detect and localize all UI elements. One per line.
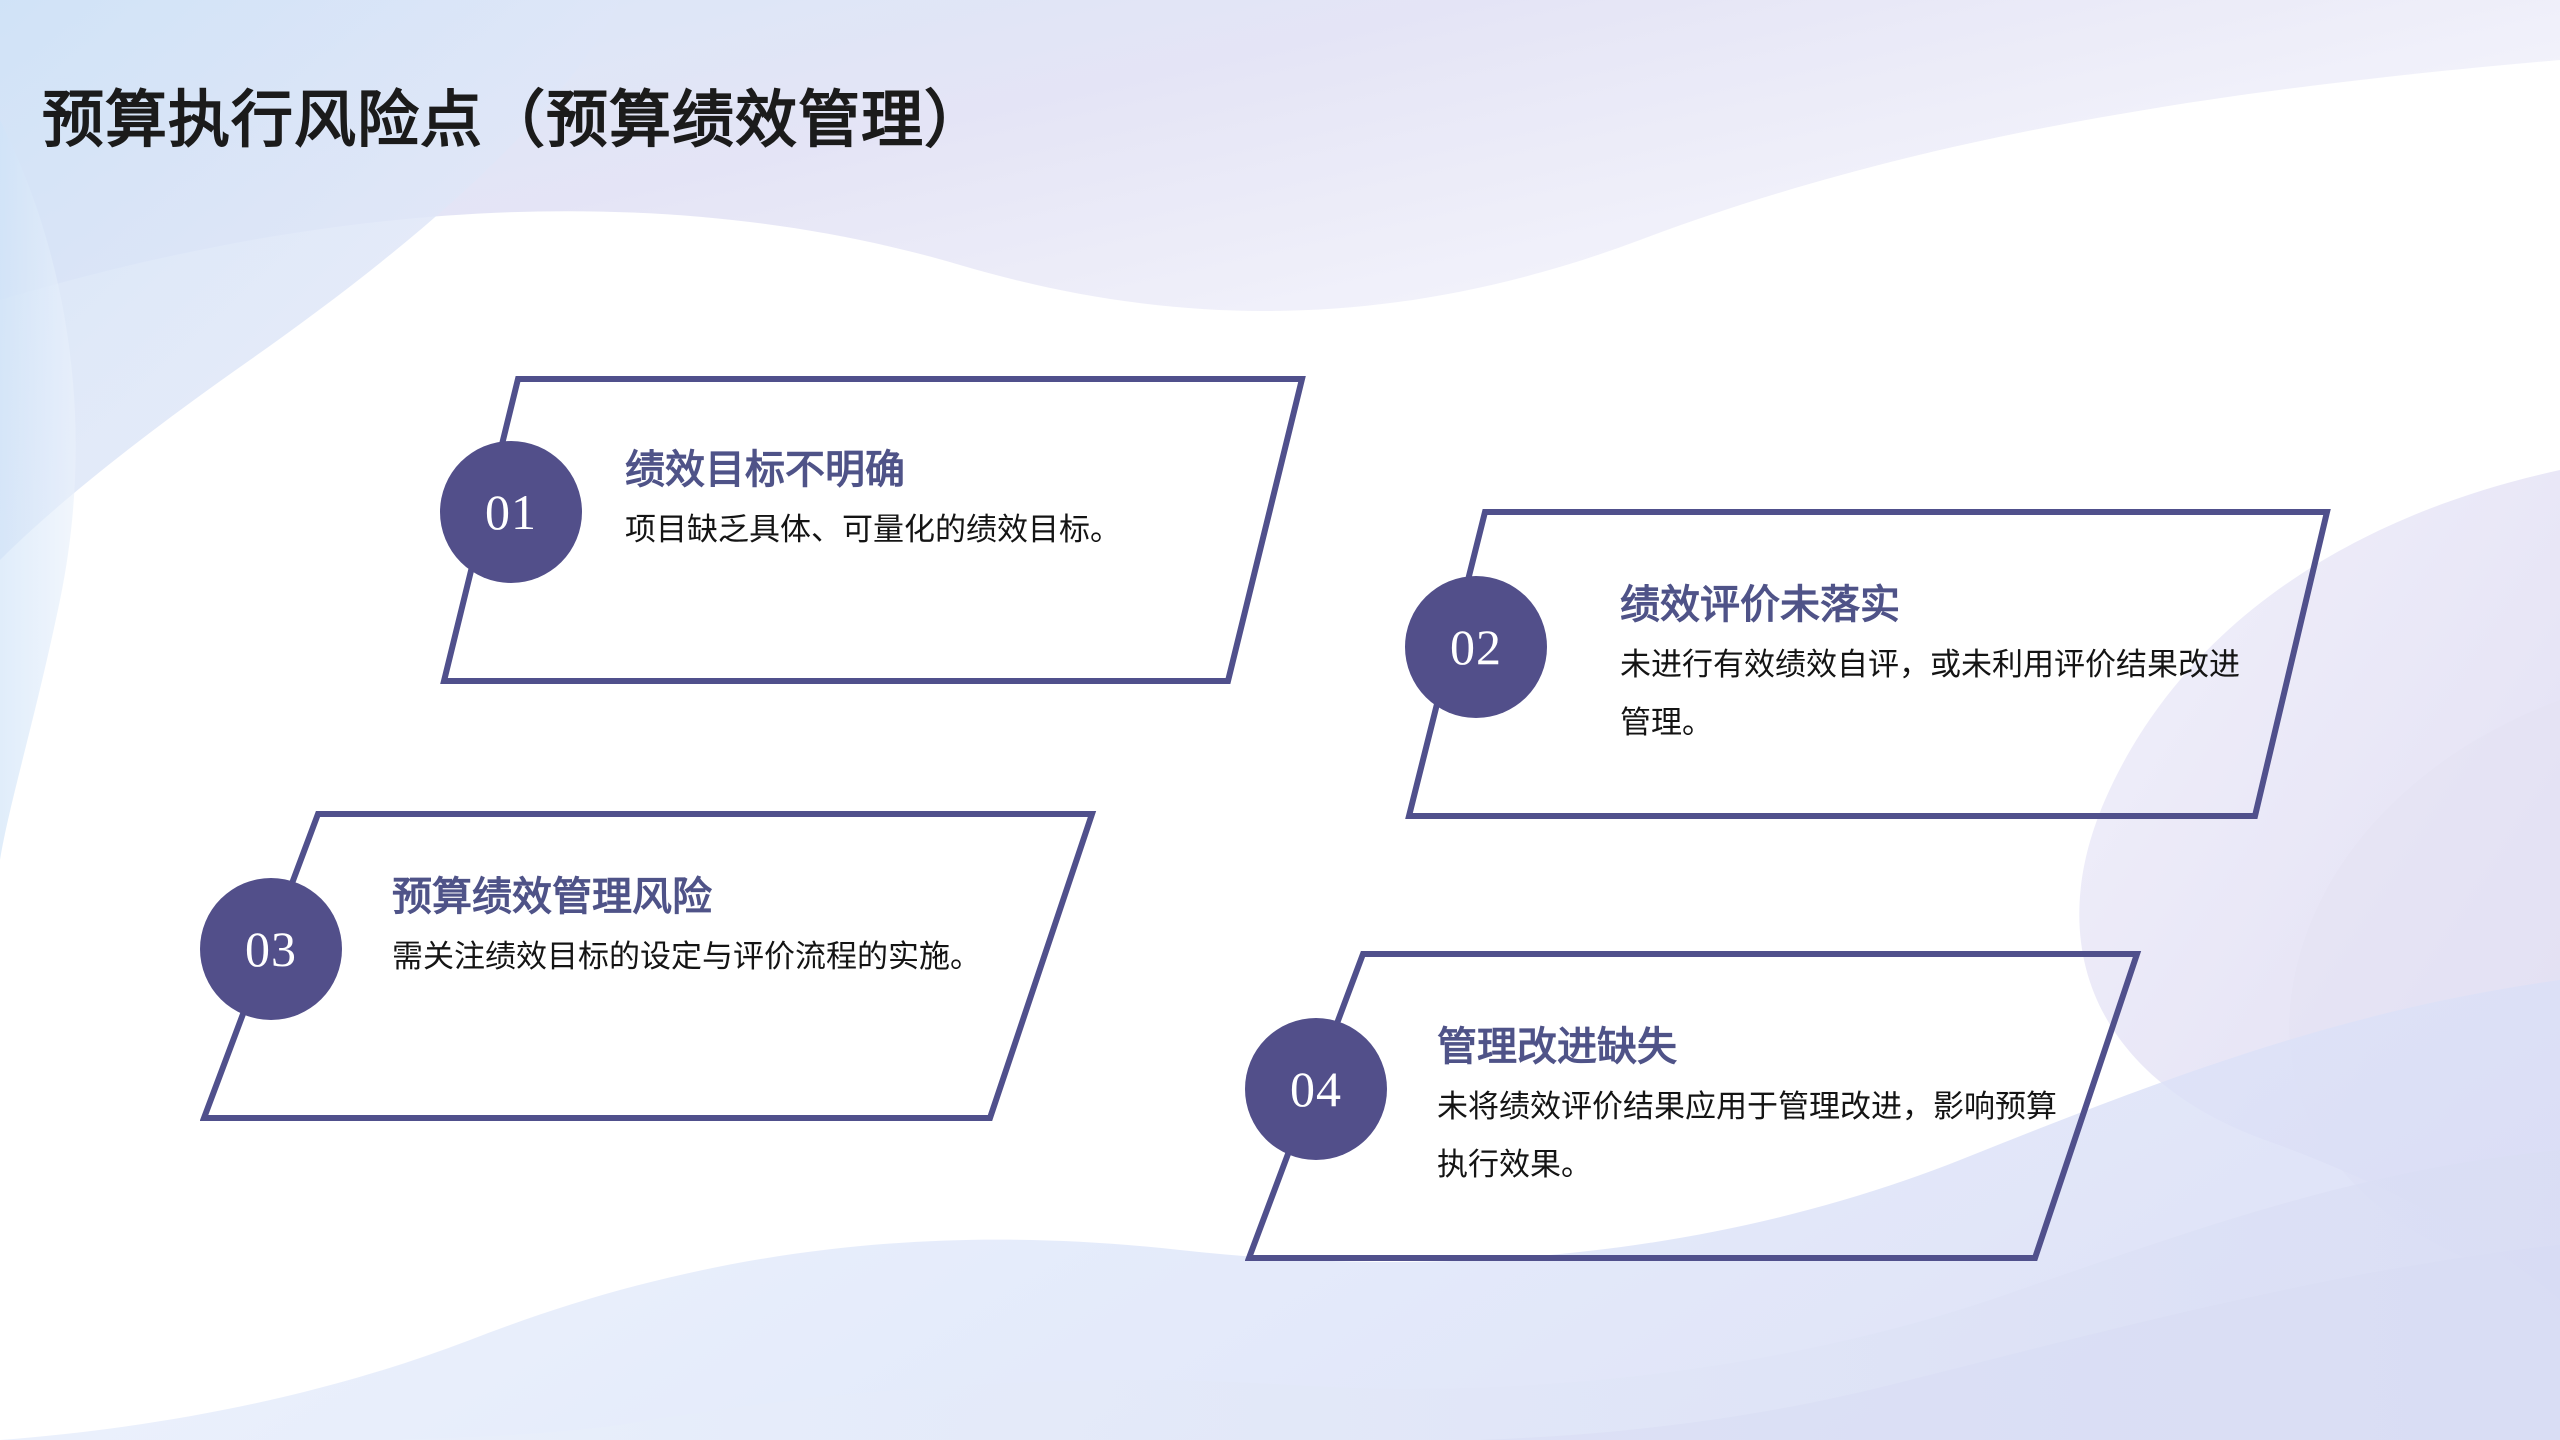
card-text-block: 绩效目标不明确 项目缺乏具体、可量化的绩效目标。 xyxy=(625,445,1235,559)
card-number-badge: 03 xyxy=(200,878,342,1020)
card-heading: 绩效目标不明确 xyxy=(625,445,1235,495)
card-body: 项目缺乏具体、可量化的绩效目标。 xyxy=(625,501,1235,559)
card-body: 需关注绩效目标的设定与评价流程的实施。 xyxy=(392,928,1012,986)
card-text-block: 管理改进缺失 未将绩效评价结果应用于管理改进，影响预算执行效果。 xyxy=(1437,1022,2057,1195)
card-heading: 绩效评价未落实 xyxy=(1620,580,2250,630)
card-number-label: 01 xyxy=(485,487,537,537)
wave-bottom-crest xyxy=(1480,1245,2560,1440)
page-title: 预算执行风险点（预算绩效管理） xyxy=(42,82,987,160)
card-text-block: 绩效评价未落实 未进行有效绩效自评，或未利用评价结果改进管理。 xyxy=(1620,580,2250,753)
card-number-label: 03 xyxy=(245,924,297,974)
card-body: 未进行有效绩效自评，或未利用评价结果改进管理。 xyxy=(1620,636,2250,753)
card-number-badge: 01 xyxy=(440,441,582,583)
card-number-badge: 04 xyxy=(1245,1018,1387,1160)
card-number-badge: 02 xyxy=(1405,576,1547,718)
card-heading: 预算绩效管理风险 xyxy=(392,872,1012,922)
card-body: 未将绩效评价结果应用于管理改进，影响预算执行效果。 xyxy=(1437,1078,2057,1195)
card-text-block: 预算绩效管理风险 需关注绩效目标的设定与评价流程的实施。 xyxy=(392,872,1012,986)
card-number-label: 02 xyxy=(1450,622,1502,672)
slide-canvas: 预算执行风险点（预算绩效管理） 01 绩效目标不明确 项目缺乏具体、可量化的绩效… xyxy=(0,0,2560,1440)
wave-left-edge xyxy=(0,120,76,860)
card-number-label: 04 xyxy=(1290,1064,1342,1114)
card-heading: 管理改进缺失 xyxy=(1437,1022,2057,1072)
